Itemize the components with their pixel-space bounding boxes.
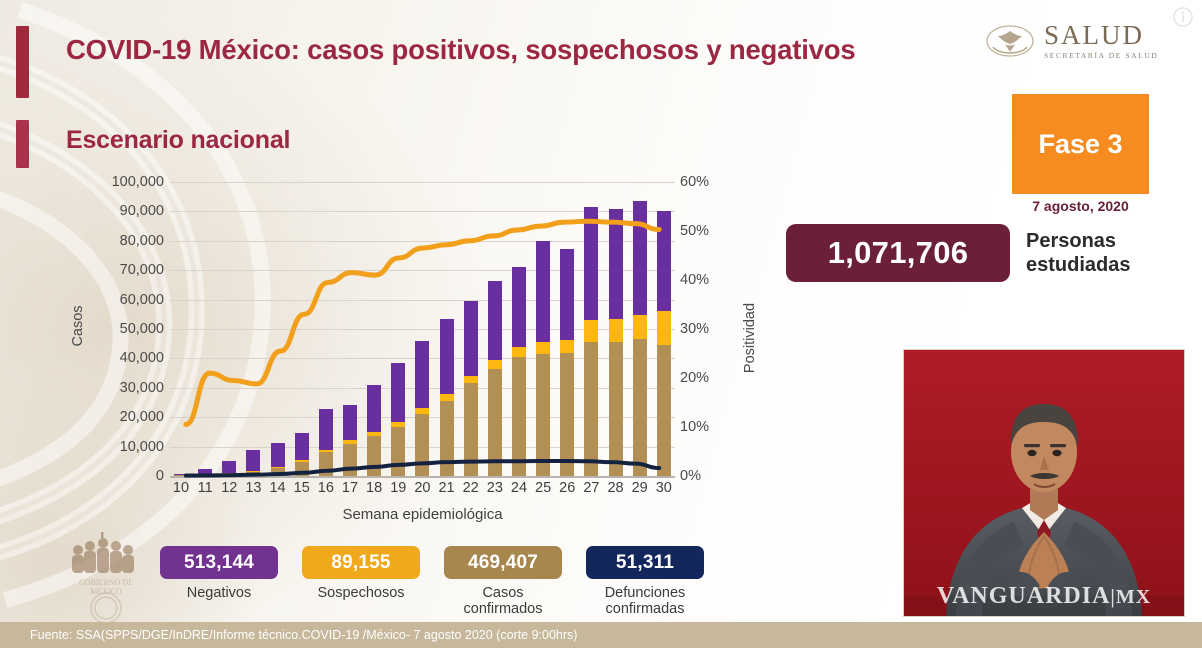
legend-item: 469,407Casosconfirmados [444,546,562,617]
y-tick-label: 0 [156,468,164,484]
y-tick-label: 30,000 [120,380,164,396]
x-axis-tick-labels: 1011121314151617181920212223242526272829… [170,480,675,496]
personas-estudiadas-value: 1,071,706 [828,235,969,271]
legend-value-pill: 51,311 [586,546,704,579]
x-tick-label: 24 [509,480,529,496]
page-subtitle: Escenario nacional [66,126,290,155]
x-tick-label: 15 [292,480,312,496]
x-tick-label: 23 [485,480,505,496]
legend-label-line1: Negativos [160,585,278,601]
legend-label: Defuncionesconfirmadas [586,585,704,617]
y2-tick-label: 20% [680,370,709,386]
x-tick-label: 16 [316,480,336,496]
fase-date: 7 agosto, 2020 [1012,198,1149,214]
y-tick-label: 50,000 [120,321,164,337]
x-tick-label: 28 [606,480,626,496]
y-tick-label: 100,000 [112,174,164,190]
source-text: Fuente: SSA(SPPS/DGE/InDRE/Informe técni… [0,628,577,642]
x-axis-title: Semana epidemiológica [170,506,675,523]
vanguardia-watermark-mx: MX [1116,586,1151,608]
personas-estudiadas-stat: 1,071,706 Personas estudiadas [786,224,1130,282]
sign-language-interpreter-video[interactable]: VANGUARDIA|MX [903,349,1185,617]
x-tick-label: 26 [557,480,577,496]
legend-value: 89,155 [331,552,390,574]
x-tick-label: 10 [171,480,191,496]
y2-tick-label: 30% [680,321,709,337]
source-footer: Fuente: SSA(SPPS/DGE/InDRE/Informe técni… [0,622,1202,648]
salud-sub-wordmark: SECRETARÍA DE SALUD [1044,52,1158,60]
x-tick-label: 13 [243,480,263,496]
legend-value: 513,144 [184,552,254,574]
legend-label-line2: confirmadas [586,601,704,617]
personas-estudiadas-label: Personas estudiadas [1026,229,1130,277]
x-tick-label: 18 [364,480,384,496]
legend-label-line1: Sospechosos [302,585,420,601]
y-tick-label: 60,000 [120,292,164,308]
legend-value-pill: 469,407 [444,546,562,579]
svg-text:GOBIERNO DE: GOBIERNO DE [79,578,133,587]
legend-label: Negativos [160,585,278,601]
y2-tick-label: 50% [680,223,709,239]
gobierno-de-mexico-emblem-icon: GOBIERNO DE MÉXICO [58,528,154,628]
y2-tick-label: 40% [680,272,709,288]
x-tick-label: 12 [219,480,239,496]
x-tick-label: 21 [437,480,457,496]
legend-item: 51,311Defuncionesconfirmadas [586,546,704,617]
x-tick-label: 25 [533,480,553,496]
y-tick-label: 90,000 [120,203,164,219]
x-tick-label: 11 [195,480,215,496]
chart-legend: 513,144Negativos89,155Sospechosos469,407… [160,546,704,617]
covid-chart: Casos Positividad 010,00020,00030,00040,… [60,176,780,536]
vanguardia-watermark-main: VANGUARDIA [937,583,1111,609]
x-tick-label: 17 [340,480,360,496]
interpreter-illustration [904,350,1184,616]
line-series [186,461,659,476]
y2-tick-label: 10% [680,419,709,435]
x-tick-label: 29 [630,480,650,496]
legend-label-line1: Casos [444,585,562,601]
legend-value: 51,311 [616,552,674,574]
x-tick-label: 20 [412,480,432,496]
plot-area [170,182,675,476]
salud-brand: SALUD SECRETARÍA DE SALUD [985,22,1158,60]
x-tick-label: 22 [461,480,481,496]
salud-wordmark: SALUD [1044,22,1158,49]
svg-text:MÉXICO: MÉXICO [90,586,122,596]
mexico-eagle-seal-icon [985,23,1035,59]
x-tick-label: 30 [654,480,674,496]
page-title: COVID-19 México: casos positivos, sospec… [66,34,855,66]
info-icon[interactable] [1172,6,1194,28]
personas-estudiadas-pill: 1,071,706 [786,224,1010,282]
y-tick-label: 80,000 [120,233,164,249]
legend-value: 469,407 [468,552,538,574]
y-tick-label: 20,000 [120,409,164,425]
y2-tick-label: 0% [680,468,701,484]
y-axis-title: Casos [70,305,86,346]
fase-badge: Fase 3 [1012,94,1149,194]
personas-estudiadas-label-line1: Personas [1026,229,1130,253]
fase-label: Fase 3 [1038,129,1122,160]
slide-canvas: COVID-19 México: casos positivos, sospec… [0,0,1202,648]
legend-item: 513,144Negativos [160,546,278,617]
line-series-overlay [170,182,675,476]
legend-label-line1: Defunciones [586,585,704,601]
legend-value-pill: 513,144 [160,546,278,579]
vanguardia-watermark: VANGUARDIA|MX [904,583,1184,610]
line-series [186,221,659,424]
legend-item: 89,155Sospechosos [302,546,420,617]
title-accent-bar [16,26,29,98]
personas-estudiadas-label-line2: estudiadas [1026,253,1130,277]
x-tick-label: 19 [388,480,408,496]
y-tick-label: 10,000 [120,439,164,455]
legend-label: Sospechosos [302,585,420,601]
y-tick-label: 40,000 [120,350,164,366]
legend-label-line2: confirmados [444,601,562,617]
legend-value-pill: 89,155 [302,546,420,579]
x-tick-label: 14 [268,480,288,496]
subtitle-accent-bar [16,120,29,168]
y-tick-label: 70,000 [120,262,164,278]
x-tick-label: 27 [581,480,601,496]
y2-tick-label: 60% [680,174,709,190]
y2-axis-title: Positividad [742,303,758,373]
legend-label: Casosconfirmados [444,585,562,617]
